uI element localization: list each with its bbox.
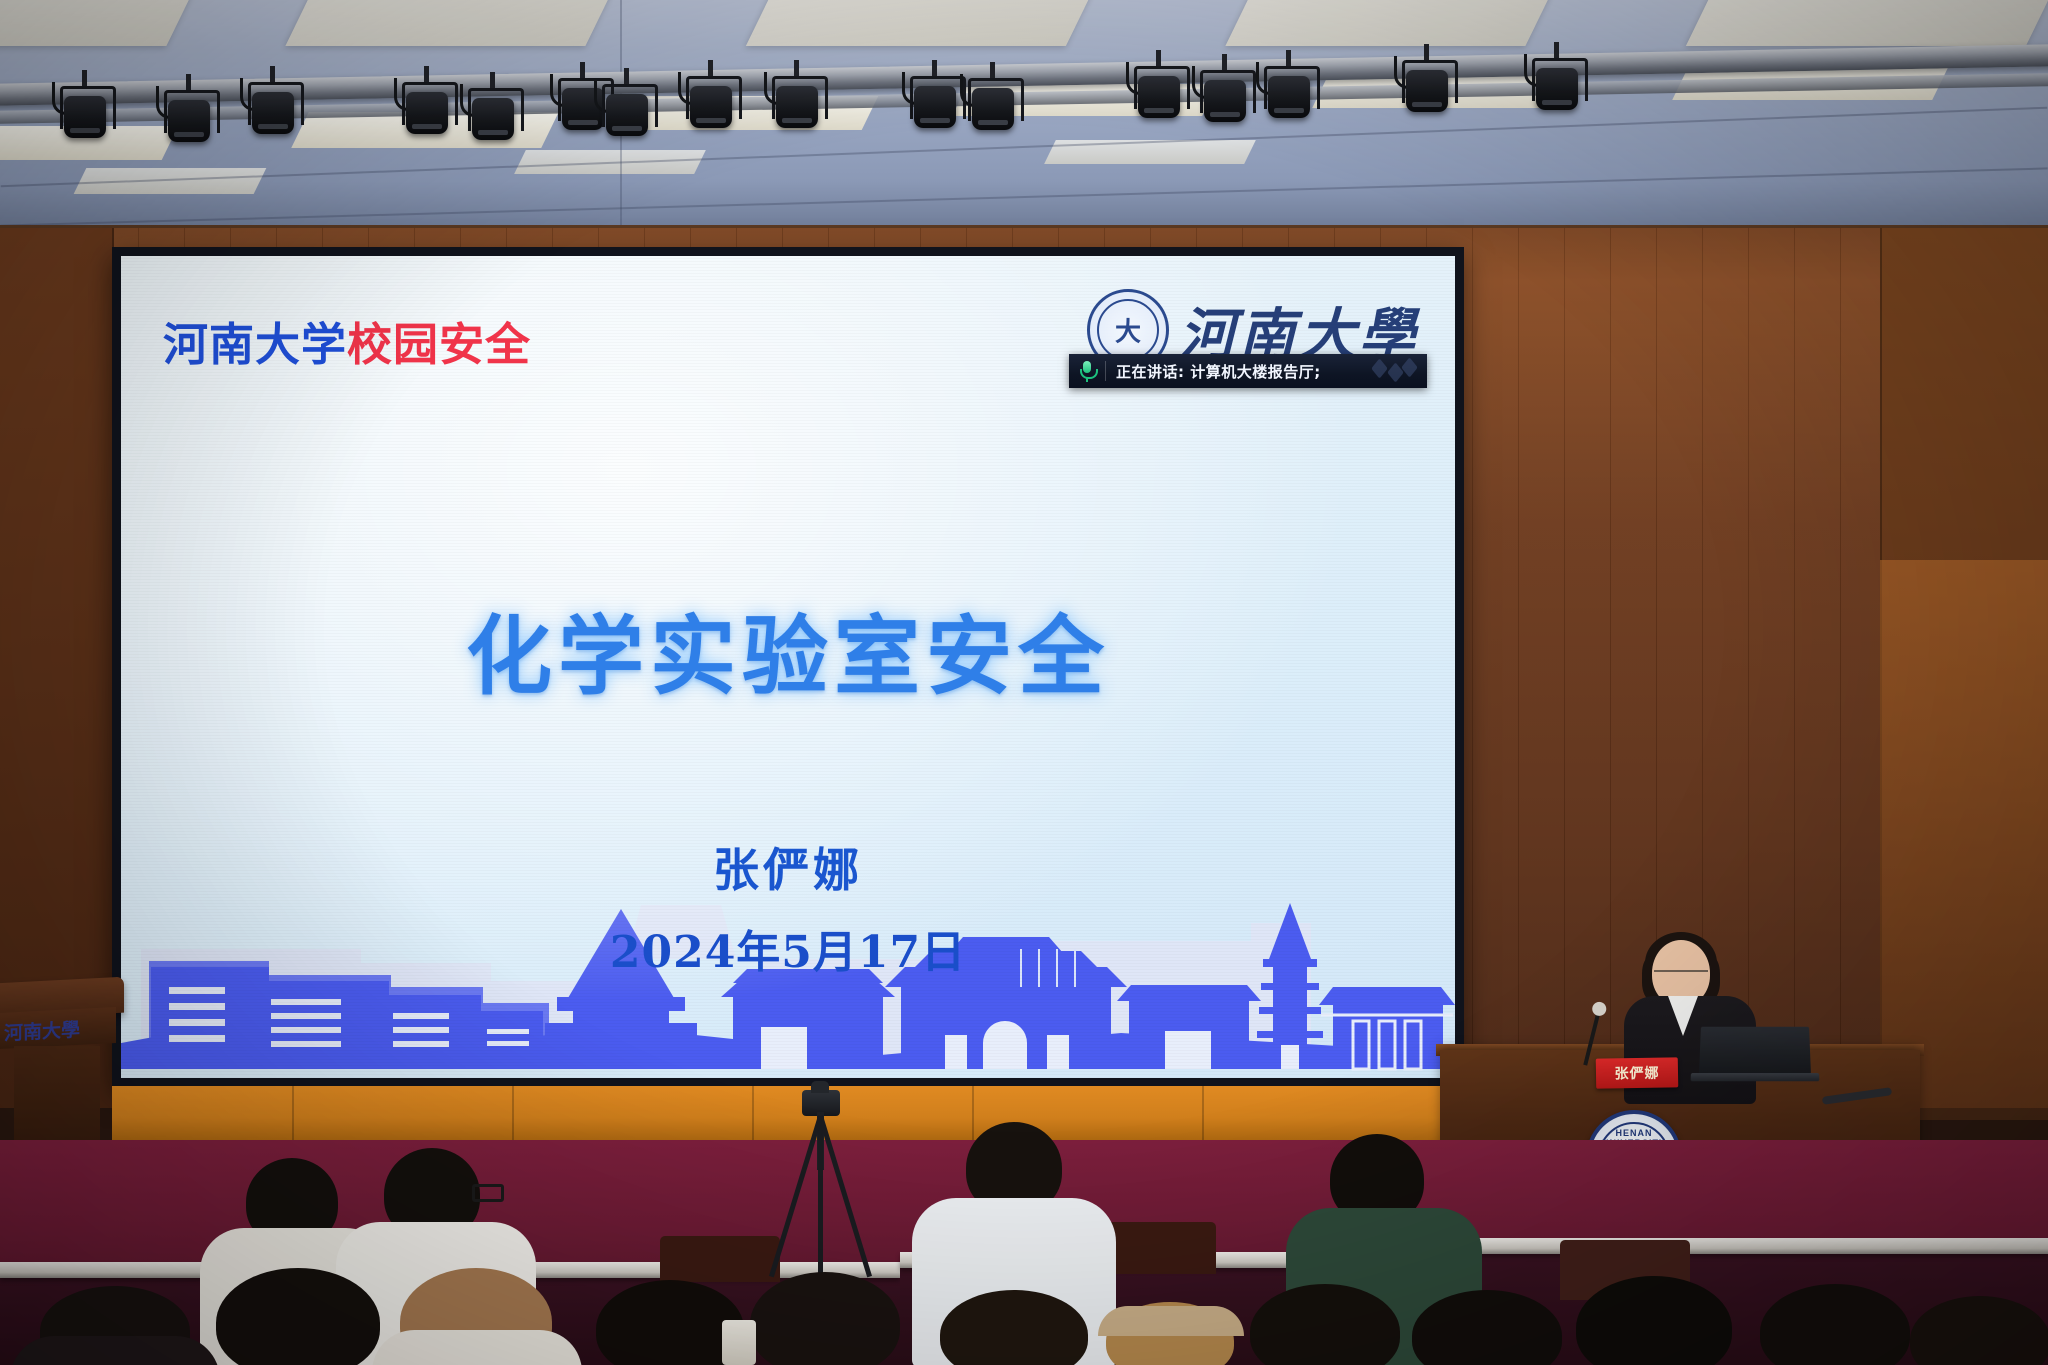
paper-cup: [722, 1320, 756, 1365]
presenter-glasses: [1654, 970, 1708, 984]
presenter-nameplate: 张俨娜: [1596, 1057, 1679, 1088]
ceiling: [0, 0, 2048, 232]
projection-screen-frame: 河南大学校园安全 大 河南大學 HENAN UNIVERSITY 正在讲话: 计…: [112, 247, 1464, 1087]
lectern: 河南大學: [0, 980, 124, 1165]
stage-light: [1262, 62, 1316, 122]
chair: [660, 1236, 780, 1282]
eyeglasses: [472, 1184, 504, 1202]
stage-light: [770, 72, 824, 132]
stage-light: [246, 78, 300, 138]
slide-header: 河南大学校园安全: [163, 308, 531, 373]
cap: [1098, 1306, 1244, 1336]
presenter-laptop: [1699, 1027, 1811, 1074]
banner-decoration: [1373, 360, 1419, 382]
stage-light: [1198, 66, 1252, 126]
speaking-status-text: 正在讲话: 计算机大楼报告厅;: [1116, 361, 1321, 382]
stage-light: [1132, 62, 1186, 122]
microphone-icon: [1079, 360, 1095, 382]
audience-desk-edge: [1460, 1238, 2048, 1254]
slide-presenter-name: 张俨娜: [121, 834, 1455, 900]
stage-light: [466, 84, 520, 144]
stage-light: [1400, 56, 1454, 116]
slide-date: 2024年5月17日: [121, 916, 1455, 980]
right-wall-highlight: [1880, 560, 2048, 1120]
stage-light: [966, 74, 1020, 134]
camera-on-tripod: [790, 1090, 850, 1280]
stage-light: [684, 72, 738, 132]
stage-light: [600, 80, 654, 140]
stage-light: [1530, 54, 1584, 114]
stage-light: [58, 82, 112, 142]
stage-front-band: [112, 1086, 1462, 1144]
banner-divider: [1105, 361, 1106, 381]
left-wall-panel: [0, 228, 114, 1108]
slide-header-topic: 校园安全: [347, 318, 531, 371]
stage-light: [400, 78, 454, 138]
stage-light: [162, 86, 216, 146]
stage-light: [908, 72, 962, 132]
lecture-hall-photo: 河南大学校园安全 大 河南大學 HENAN UNIVERSITY 正在讲话: 计…: [0, 0, 2048, 1365]
slide-header-university: 河南大学: [163, 318, 347, 371]
nameplate-text: 张俨娜: [1614, 1063, 1659, 1084]
speaking-status-banner: 正在讲话: 计算机大楼报告厅;: [1069, 354, 1427, 388]
seal-glyph: 大: [1090, 312, 1166, 349]
projection-screen: 河南大学校园安全 大 河南大學 HENAN UNIVERSITY 正在讲话: 计…: [121, 256, 1455, 1078]
slide-title: 化学实验室安全: [121, 586, 1455, 711]
